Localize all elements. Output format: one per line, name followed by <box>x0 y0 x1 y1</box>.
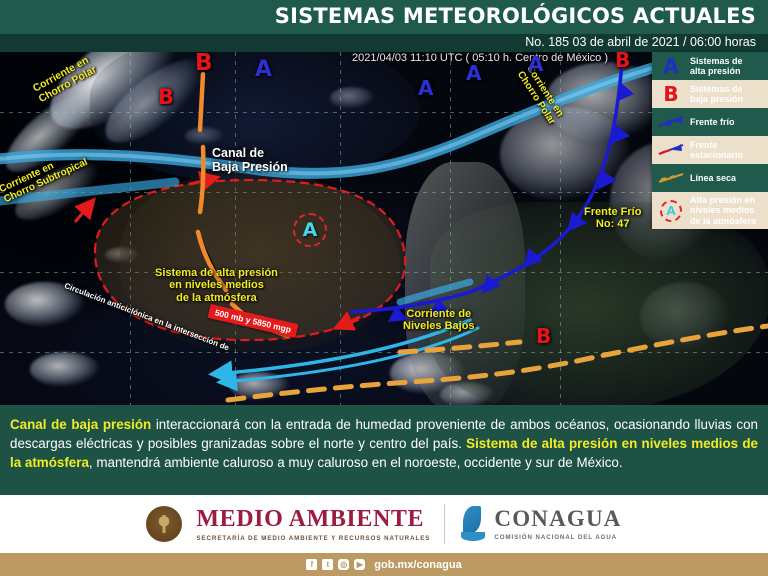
legend-item-high-pressure[interactable]: A Sistemas de alta presión <box>652 52 768 80</box>
legend-item-high-pressure-aloft[interactable]: A Alta presión en niveles medios de la a… <box>652 192 768 229</box>
legend-label: Alta presión en niveles medios de la atm… <box>690 195 756 226</box>
dry-line-icon <box>656 167 686 189</box>
high-pressure-aloft-icon: A <box>656 200 686 222</box>
high-pressure-A-icon: A <box>656 55 686 77</box>
legend-item-low-pressure[interactable]: B Sistemas de baja presión <box>652 80 768 108</box>
low-pressure-marker: B <box>536 324 551 348</box>
summary-text-2: , mantendrá ambiente caluroso a muy calu… <box>89 455 623 470</box>
map-legend: A Sistemas de alta presión B Sistemas de… <box>652 52 768 229</box>
high-pressure-marker: A <box>418 76 433 100</box>
website-url[interactable]: gob.mx/conagua <box>374 559 461 571</box>
label-low-pressure-trough: Canal de Baja Presión <box>212 146 288 174</box>
footer-logos: MEDIO AMBIENTE SECRETARÍA DE MEDIO AMBIE… <box>0 495 768 553</box>
facebook-icon[interactable]: f <box>306 559 317 570</box>
low-pressure-B-icon: B <box>656 83 686 105</box>
bulletin-number-date: No. 185 03 de abril de 2021 / 06:00 hora… <box>525 35 756 49</box>
legend-label: Frente frío <box>690 117 735 127</box>
conagua-logo: CONAGUA COMISIÓN NACIONAL DEL AGUA <box>459 505 621 543</box>
forecast-summary: Canal de baja presión interaccionará con… <box>0 405 768 495</box>
label-cold-front-47: Frente Frío No: 47 <box>584 206 641 231</box>
mexico-eagle-seal-icon <box>146 506 182 542</box>
legend-item-dry-line[interactable]: Línea seca <box>652 164 768 192</box>
low-pressure-marker: B <box>195 52 213 76</box>
social-bar: f t ◎ ▶ gob.mx/conagua <box>0 553 768 576</box>
legend-label: Línea seca <box>690 173 736 183</box>
logo-divider <box>444 504 445 544</box>
agency-title: CONAGUA <box>494 507 621 530</box>
twitter-icon[interactable]: t <box>322 559 333 570</box>
stationary-front-icon <box>656 139 686 161</box>
ministry-title: MEDIO AMBIENTE <box>196 507 430 531</box>
highlight-trough: Canal de baja presión <box>10 417 151 432</box>
bulletin-subheader: No. 185 03 de abril de 2021 / 06:00 hora… <box>0 34 768 52</box>
ministry-subtitle: SECRETARÍA DE MEDIO AMBIENTE Y RECURSOS … <box>196 535 430 542</box>
youtube-icon[interactable]: ▶ <box>354 559 365 570</box>
legend-item-stationary-front[interactable]: Frente estacionario <box>652 136 768 164</box>
weather-bulletin-page: SISTEMAS METEOROLÓGICOS ACTUALES No. 185… <box>0 0 768 576</box>
high-pressure-marker: A <box>528 52 543 76</box>
low-pressure-marker: B <box>158 85 174 109</box>
legend-label: Sistemas de baja presión <box>690 84 743 105</box>
page-title: SISTEMAS METEOROLÓGICOS ACTUALES <box>275 4 756 28</box>
page-header: SISTEMAS METEOROLÓGICOS ACTUALES <box>0 0 768 34</box>
conagua-water-icon <box>459 505 487 543</box>
instagram-icon[interactable]: ◎ <box>338 559 349 570</box>
forecast-paragraph: Canal de baja presión interaccionará con… <box>10 415 758 472</box>
legend-item-cold-front[interactable]: Frente frío <box>652 108 768 136</box>
trough-line <box>200 74 203 130</box>
high-aloft-letter: A <box>303 219 318 241</box>
ministry-logo: MEDIO AMBIENTE SECRETARÍA DE MEDIO AMBIE… <box>196 507 430 542</box>
high-pressure-aloft-center: A <box>293 213 327 247</box>
low-pressure-marker: B <box>615 52 630 72</box>
label-high-pressure-system: Sistema de alta presión en niveles medio… <box>155 267 278 304</box>
cold-front-icon <box>656 111 686 133</box>
agency-subtitle: COMISIÓN NACIONAL DEL AGUA <box>494 534 621 541</box>
high-pressure-marker: A <box>466 61 481 85</box>
label-low-level-current: Corriente de Niveles Bajos <box>403 308 475 333</box>
legend-label: Sistemas de alta presión <box>690 56 743 77</box>
high-pressure-marker: A <box>255 57 272 82</box>
legend-label: Frente estacionario <box>690 140 743 161</box>
